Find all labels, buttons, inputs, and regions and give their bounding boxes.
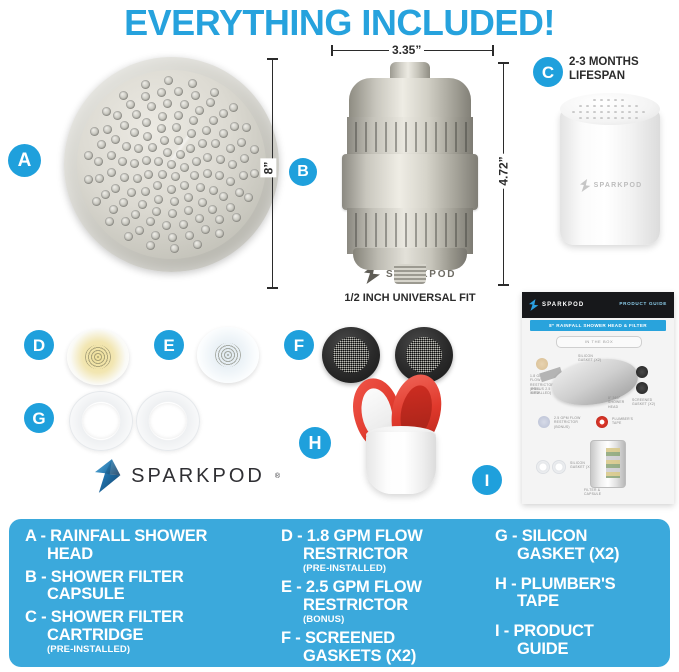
- dimension-label-width: 3.35”: [389, 42, 424, 58]
- guide-in-the-box-pill: IN THE BOX: [556, 336, 642, 348]
- capsule-flute: [355, 213, 357, 247]
- shower-nozzle: [176, 150, 185, 159]
- lifespan-line-1: 2-3 MONTHS: [569, 55, 679, 69]
- shower-nozzle: [211, 139, 220, 148]
- shower-nozzle: [122, 142, 131, 151]
- shower-nozzle: [146, 217, 155, 226]
- shower-nozzle: [190, 171, 199, 180]
- capsule-flute: [435, 122, 437, 152]
- legend-item-f-line1: F - SCREENED: [281, 630, 481, 648]
- cartridge-perforation: [572, 111, 575, 113]
- shower-nozzle: [170, 197, 179, 206]
- shower-nozzle: [141, 187, 150, 196]
- shower-nozzle: [168, 209, 177, 218]
- shower-nozzle: [133, 174, 142, 183]
- legend-item-i-line2: GUIDE: [495, 641, 675, 659]
- shower-nozzle: [232, 213, 241, 222]
- dimension-cap-top: [267, 58, 278, 60]
- lifespan-callout: 2-3 MONTHS LIFESPAN: [569, 55, 679, 84]
- badge-a: A: [8, 144, 41, 177]
- capsule-flute: [385, 122, 387, 152]
- cartridge-perforation: [614, 111, 617, 113]
- shower-nozzle: [193, 240, 202, 249]
- shower-nozzle: [209, 186, 218, 195]
- shower-nozzle: [84, 175, 93, 184]
- shower-nozzle: [209, 116, 218, 125]
- cartridge-perforation: [635, 111, 638, 113]
- legend-item-e-line2: RESTRICTOR: [281, 597, 481, 615]
- capsule-threaded-outlet: [394, 264, 426, 284]
- page-title: EVERYTHING INCLUDED!: [0, 2, 679, 44]
- shower-nozzle: [229, 103, 238, 112]
- shower-nozzle: [216, 155, 225, 164]
- brand-name-text: SPARKPOD: [131, 465, 265, 488]
- shower-nozzle: [242, 123, 251, 132]
- guide-restrictor-icon: [536, 358, 548, 370]
- shower-nozzle: [226, 177, 235, 186]
- shower-nozzle: [111, 135, 120, 144]
- capsule-flute: [375, 213, 377, 247]
- flow-restrictor-1-8-gpm-image: [67, 329, 129, 385]
- shower-nozzle: [196, 183, 205, 192]
- guide-filter-diagram: [584, 434, 630, 492]
- shower-nozzle: [130, 159, 139, 168]
- shower-nozzle: [250, 145, 259, 154]
- restrictor-mesh: [85, 345, 111, 369]
- cartridge-perforation: [628, 105, 631, 107]
- shower-nozzle: [132, 110, 141, 119]
- shower-nozzle: [203, 153, 212, 162]
- shower-nozzle: [184, 193, 193, 202]
- legend-item-c-sub: (PRE-INSTALLED): [25, 645, 263, 655]
- capsule-flute: [365, 122, 367, 152]
- shower-head-face: [77, 70, 266, 259]
- cartridge-perforation: [621, 99, 624, 101]
- cartridge-perforation: [579, 105, 582, 107]
- shower-nozzle: [228, 160, 237, 169]
- cartridge-perforation: [642, 111, 645, 113]
- shower-nozzle: [107, 151, 116, 160]
- cartridge-perforation: [593, 111, 596, 113]
- guide-plumbers-tape-icon: [596, 416, 608, 428]
- capsule-flute: [405, 213, 407, 247]
- legend-item-i: I - PRODUCT GUIDE: [495, 623, 675, 659]
- shower-nozzle: [154, 157, 163, 166]
- shower-nozzle: [185, 231, 194, 240]
- shower-nozzle: [107, 168, 116, 177]
- shower-nozzle: [134, 144, 143, 153]
- cartridge-perforation: [607, 111, 610, 113]
- shower-nozzle: [202, 126, 211, 135]
- cartridge-perforation: [628, 111, 631, 113]
- shower-nozzle: [101, 190, 110, 199]
- shower-nozzle: [195, 106, 204, 115]
- cartridge-perforation: [635, 105, 638, 107]
- shower-nozzle: [119, 91, 128, 100]
- shower-nozzle: [147, 102, 156, 111]
- shower-nozzle: [180, 100, 189, 109]
- plumbers-tape-image: [348, 378, 452, 494]
- shower-nozzle: [143, 132, 152, 141]
- guide-brand-logo: SPARKPOD: [529, 299, 584, 311]
- capsule-flute: [455, 122, 457, 152]
- shower-nozzle: [201, 225, 210, 234]
- legend-item-c-line1: C - SHOWER FILTER: [25, 609, 263, 627]
- shower-nozzle: [198, 139, 207, 148]
- legend-column-3: G - SILICON GASKET (X2) H - PLUMBER'S TA…: [495, 528, 675, 671]
- shower-nozzle: [186, 144, 195, 153]
- cartridge-perforation: [607, 105, 610, 107]
- shower-nozzle: [237, 138, 246, 147]
- shower-nozzle: [141, 80, 150, 89]
- shower-nozzle: [126, 100, 135, 109]
- shower-nozzle: [206, 98, 215, 107]
- shower-nozzle: [152, 207, 161, 216]
- legend-item-a: A - RAINFALL SHOWER HEAD: [25, 528, 263, 564]
- legend-item-c-line2: CARTRIDGE: [25, 627, 263, 645]
- guide-restrictor2-icon: [538, 416, 550, 428]
- shower-nozzle: [90, 127, 99, 136]
- shower-nozzle: [250, 169, 259, 178]
- guide-note-restrictor2: 2.5 GPM FLOW RESTRICTOR (BONUS): [554, 416, 582, 429]
- cartridge-perforation: [586, 105, 589, 107]
- capsule-flute: [445, 213, 447, 247]
- guide-note-filter-cartridge: FILTER & CAPSULE: [584, 488, 610, 497]
- shower-nozzle: [120, 173, 129, 182]
- cartridge-perforation: [621, 105, 624, 107]
- capsule-flute: [415, 213, 417, 247]
- shower-nozzle: [203, 169, 212, 178]
- shower-nozzle: [118, 157, 127, 166]
- shower-nozzle: [210, 88, 219, 97]
- shower-nozzle: [170, 244, 179, 253]
- shower-nozzle: [154, 195, 163, 204]
- cartridge-perforation: [614, 117, 617, 119]
- shower-nozzle: [153, 181, 162, 190]
- legend-item-d: D - 1.8 GPM FLOW RESTRICTOR (PRE-INSTALL…: [281, 528, 481, 574]
- shower-nozzle: [142, 118, 151, 127]
- shower-nozzle: [109, 205, 118, 214]
- cartridge-perforation: [614, 99, 617, 101]
- shower-nozzle: [94, 157, 103, 166]
- shower-nozzle: [171, 172, 180, 181]
- shower-nozzle: [103, 125, 112, 134]
- brand-registered-mark: ®: [275, 473, 280, 480]
- legend-item-g-line2: GASKET (X2): [495, 546, 675, 564]
- product-guide-image: SPARKPOD PRODUCT GUIDE 8” RAINFALL SHOWE…: [522, 292, 674, 504]
- cartridge-body: [560, 109, 660, 245]
- legend-item-d-line2: RESTRICTOR: [281, 546, 481, 564]
- guide-note-shower-head: 8” 360° SHOWER HEAD: [608, 396, 632, 409]
- shower-nozzle: [148, 143, 157, 152]
- shower-nozzle: [102, 107, 111, 116]
- shower-nozzle: [167, 185, 176, 194]
- legend-item-h-line1: H - PLUMBER'S: [495, 576, 675, 594]
- shower-nozzle: [142, 156, 151, 165]
- dimension-label-height: 8”: [260, 159, 276, 178]
- cartridge-perforation: [621, 111, 624, 113]
- cartridge-perforation: [593, 99, 596, 101]
- silicon-gasket-1-image: [69, 391, 133, 451]
- dimension-cap-bottom: [267, 287, 278, 289]
- sparkpod-bolt-icon: [529, 299, 539, 311]
- cartridge-perforation: [635, 117, 638, 119]
- rainfall-shower-head-image: [64, 57, 279, 272]
- cartridge-perforation: [614, 105, 617, 107]
- badge-h: H: [299, 427, 331, 459]
- guide-brand-text: SPARKPOD: [542, 302, 584, 308]
- shower-nozzle: [158, 112, 167, 121]
- shower-nozzle: [168, 233, 177, 242]
- capsule-flute: [395, 122, 397, 152]
- capsule-flute: [395, 213, 397, 247]
- capsule-flute: [355, 122, 357, 152]
- legend-item-d-line1: D - 1.8 GPM FLOW: [281, 528, 481, 546]
- shower-nozzle: [120, 121, 129, 130]
- guide-silicon-gasket-icon-1: [536, 460, 550, 474]
- cartridge-perforation: [586, 117, 589, 119]
- legend-item-c: C - SHOWER FILTER CARTRIDGE (PRE-INSTALL…: [25, 609, 263, 655]
- legend-item-g-line1: G - SILICON: [495, 528, 675, 546]
- legend-item-f: F - SCREENED GASKETS (X2): [281, 630, 481, 666]
- capsule-flute: [375, 122, 377, 152]
- shower-nozzle: [127, 188, 136, 197]
- capsule-flute: [385, 213, 387, 247]
- shower-nozzle: [174, 87, 183, 96]
- dimension-cap-left: [331, 45, 333, 56]
- cartridge-perforation: [579, 117, 582, 119]
- cartridge-perforation: [579, 111, 582, 113]
- shower-nozzle: [179, 220, 188, 229]
- shower-nozzle: [124, 232, 133, 241]
- guide-note-screened: SCREENED GASKET (X2): [632, 398, 658, 407]
- shower-nozzle: [162, 221, 171, 230]
- cartridge-perforation: [628, 117, 631, 119]
- legend-item-e: E - 2.5 GPM FLOW RESTRICTOR (BONUS): [281, 579, 481, 625]
- shower-nozzle: [235, 188, 244, 197]
- cartridge-perforation: [607, 117, 610, 119]
- legend-column-1: A - RAINFALL SHOWER HEAD B - SHOWER FILT…: [25, 528, 263, 660]
- shower-nozzle: [215, 229, 224, 238]
- shower-nozzle: [146, 241, 155, 250]
- shower-nozzle: [84, 151, 93, 160]
- shower-nozzle: [226, 203, 235, 212]
- shower-nozzle: [219, 129, 228, 138]
- shower-nozzle: [167, 160, 176, 169]
- capsule-center-band: SPARKPOD: [342, 154, 478, 210]
- dimension-cap-bottom-2: [498, 284, 509, 286]
- shower-nozzle: [119, 198, 128, 207]
- shower-nozzle: [111, 184, 120, 193]
- legend-item-i-line1: I - PRODUCT: [495, 623, 675, 641]
- shower-nozzle: [113, 111, 122, 120]
- shower-nozzle: [130, 128, 139, 137]
- legend-item-d-sub: (PRE-INSTALLED): [281, 564, 481, 574]
- sparkpod-bolt-icon: [95, 454, 121, 498]
- legend-item-g: G - SILICON GASKET (X2): [495, 528, 675, 564]
- badge-g: G: [24, 403, 54, 433]
- capsule-flute: [465, 122, 467, 152]
- cartridge-perforation: [600, 99, 603, 101]
- legend-item-a-line1: A - RAINFALL SHOWER: [25, 528, 263, 546]
- shower-nozzle: [97, 140, 106, 149]
- legend-item-b-line2: CAPSULE: [25, 586, 263, 604]
- shower-nozzle: [138, 200, 147, 209]
- cartridge-perforation: [600, 105, 603, 107]
- guide-screened-gasket-icon-1: [636, 366, 648, 378]
- shower-nozzle: [174, 111, 183, 120]
- shower-nozzle: [131, 210, 140, 219]
- shower-nozzle: [187, 129, 196, 138]
- silicon-gasket-2-image: [136, 391, 200, 451]
- capsule-flute: [415, 122, 417, 152]
- cartridge-perforation: [593, 105, 596, 107]
- tape-container-base: [366, 432, 436, 494]
- shower-nozzle: [230, 122, 239, 131]
- restrictor-mesh: [215, 343, 241, 367]
- guide-header: SPARKPOD PRODUCT GUIDE: [522, 292, 674, 318]
- shower-nozzle: [215, 215, 224, 224]
- dimension-cap-right: [492, 45, 494, 56]
- badge-d: D: [24, 330, 54, 360]
- lifespan-line-2: LIFESPAN: [569, 69, 679, 83]
- shower-nozzle: [240, 154, 249, 163]
- shower-nozzle: [191, 91, 200, 100]
- legend-column-2: D - 1.8 GPM FLOW RESTRICTOR (PRE-INSTALL…: [281, 528, 481, 671]
- cartridge-perforation: [586, 111, 589, 113]
- shower-nozzle: [164, 76, 173, 85]
- capsule-upper-flutes: [347, 117, 473, 159]
- badge-f: F: [284, 330, 314, 360]
- flow-restrictor-2-5-gpm-image: [197, 327, 259, 383]
- shower-nozzle: [95, 174, 104, 183]
- shower-nozzle: [198, 198, 207, 207]
- legend-item-e-line1: E - 2.5 GPM FLOW: [281, 579, 481, 597]
- shower-nozzle: [163, 148, 172, 157]
- shower-nozzle: [192, 157, 201, 166]
- guide-screened-gasket-icon-2: [636, 382, 648, 394]
- shower-nozzle: [157, 124, 166, 133]
- sparkpod-bolt-icon: [580, 179, 591, 192]
- shower-nozzle: [215, 171, 224, 180]
- cartridge-perforation: [600, 111, 603, 113]
- shower-nozzle: [244, 193, 253, 202]
- shower-nozzle: [219, 192, 228, 201]
- capsule-flute: [365, 213, 367, 247]
- shower-nozzle: [157, 88, 166, 97]
- badge-e: E: [154, 330, 184, 360]
- cartridge-perforation: [607, 99, 610, 101]
- legend-item-h-line2: TAPE: [495, 593, 675, 611]
- cartridge-brand-text: SPARKPOD: [594, 182, 643, 189]
- shower-nozzle: [105, 217, 114, 226]
- universal-fit-label: 1/2 INCH UNIVERSAL FIT: [337, 292, 483, 304]
- shower-filter-capsule-image: SPARKPOD: [337, 62, 483, 284]
- screened-gasket-1-image: [322, 327, 380, 383]
- shower-nozzle: [195, 214, 204, 223]
- guide-filter-media: [606, 448, 620, 478]
- shower-nozzle: [189, 116, 198, 125]
- guide-note-plumbers-tape: PLUMBER'S TAPE: [612, 417, 638, 426]
- cartridge-perforation: [621, 117, 624, 119]
- capsule-flute: [425, 213, 427, 247]
- guide-title-bar: 8” RAINFALL SHOWER HEAD & FILTER: [530, 320, 666, 331]
- brand-logo: SPARKPOD®: [95, 455, 280, 497]
- dimension-cap-top-2: [498, 62, 509, 64]
- shower-nozzle: [141, 92, 150, 101]
- guide-silicon-gasket-icon-2: [552, 460, 566, 474]
- shower-nozzle: [158, 170, 167, 179]
- capsule-flute: [405, 122, 407, 152]
- legend-item-b: B - SHOWER FILTER CAPSULE: [25, 569, 263, 605]
- legend-item-h: H - PLUMBER'S TAPE: [495, 576, 675, 612]
- shower-nozzle: [92, 197, 101, 206]
- shower-nozzle: [163, 99, 172, 108]
- cartridge-brand-logo: SPARKPOD: [576, 179, 646, 192]
- guide-header-right: PRODUCT GUIDE: [619, 301, 667, 306]
- shower-nozzle: [219, 109, 228, 118]
- capsule-flute: [435, 213, 437, 247]
- shower-nozzle: [180, 181, 189, 190]
- product-infographic: EVERYTHING INCLUDED! A 8” SPARKPOD B 1/2…: [0, 0, 679, 672]
- legend-item-e-sub: (BONUS): [281, 615, 481, 625]
- capsule-flute: [455, 213, 457, 247]
- cartridge-perforation: [593, 117, 596, 119]
- shower-filter-cartridge-image: SPARKPOD: [560, 93, 660, 253]
- shower-nozzle: [180, 163, 189, 172]
- legend-panel: A - RAINFALL SHOWER HEAD B - SHOWER FILT…: [9, 519, 670, 667]
- legend-item-f-line2: GASKETS (X2): [281, 648, 481, 666]
- shower-nozzle: [135, 226, 144, 235]
- shower-nozzle: [188, 79, 197, 88]
- shower-nozzle: [226, 144, 235, 153]
- shower-nozzle: [184, 206, 193, 215]
- shower-nozzle: [121, 217, 130, 226]
- capsule-flute: [445, 122, 447, 152]
- shower-nozzle: [239, 171, 248, 180]
- shower-nozzle: [172, 123, 181, 132]
- capsule-flute: [465, 213, 467, 247]
- legend-item-b-line1: B - SHOWER FILTER: [25, 569, 263, 587]
- cartridge-perforation: [600, 117, 603, 119]
- shower-nozzle: [144, 170, 153, 179]
- legend-item-a-line2: HEAD: [25, 546, 263, 564]
- guide-note-silicon-small: SILICON GASKET (X2): [578, 354, 606, 363]
- shower-nozzle: [151, 231, 160, 240]
- badge-b: B: [289, 158, 317, 186]
- badge-c: C: [533, 57, 563, 87]
- cartridge-top-perforations: [560, 93, 660, 125]
- dimension-label-capsule-height: 4.72”: [496, 153, 512, 188]
- shower-nozzle: [208, 205, 217, 214]
- capsule-flute: [425, 122, 427, 152]
- badge-i: I: [472, 465, 502, 495]
- shower-nozzle: [160, 136, 169, 145]
